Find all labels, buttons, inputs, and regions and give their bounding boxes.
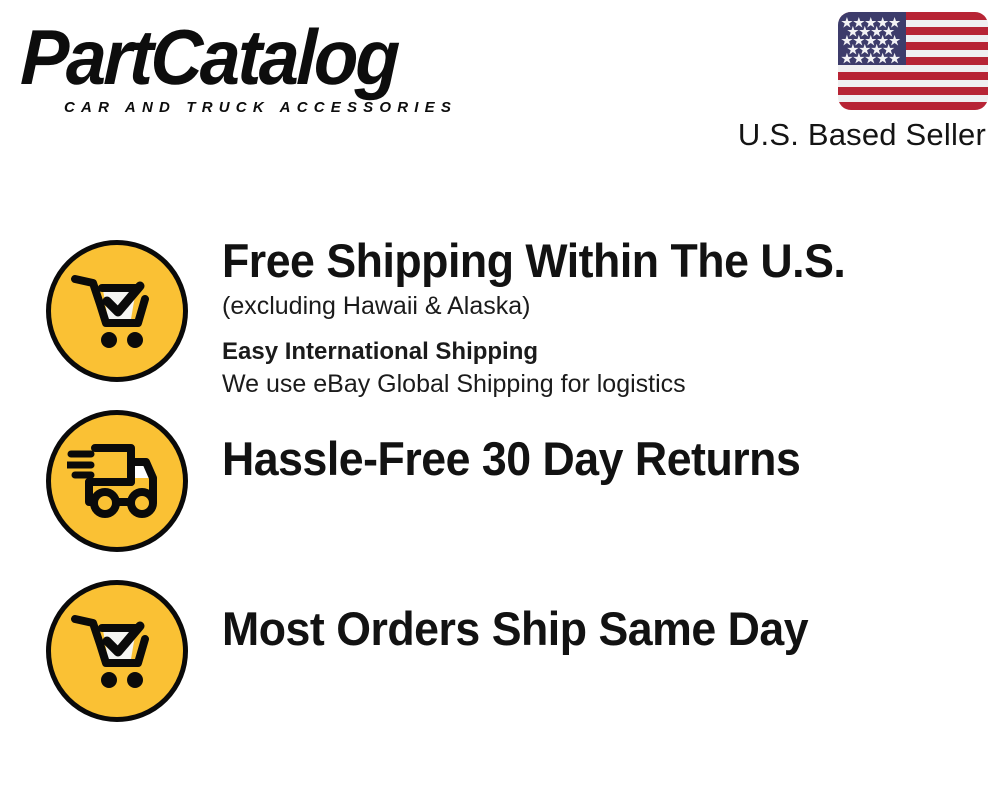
brand-logo: PartCatalog CAR AND TRUCK ACCESSORIES	[22, 18, 492, 118]
benefit-headline: Free Shipping Within The U.S.	[222, 236, 944, 286]
benefit-headline: Most Orders Ship Same Day	[222, 604, 944, 654]
shopping-cart-check-icon	[46, 580, 188, 722]
us-based-seller-label: U.S. Based Seller	[640, 118, 986, 152]
benefit-copy: Hassle-Free 30 Day Returns	[222, 434, 982, 484]
benefit-subtext-international-detail: We use eBay Global Shipping for logistic…	[222, 368, 982, 401]
benefit-copy: Most Orders Ship Same Day	[222, 604, 982, 654]
benefit-headline: Hassle-Free 30 Day Returns	[222, 434, 944, 484]
seller-banner: PartCatalog CAR AND TRUCK ACCESSORIES	[0, 0, 1000, 800]
benefit-subtext-international-title: Easy International Shipping	[222, 335, 982, 368]
us-flag-icon	[838, 12, 988, 110]
benefit-row: Hassle-Free 30 Day Returns	[0, 402, 1000, 572]
delivery-truck-icon	[46, 410, 188, 552]
benefit-subtext-exclusions: (excluding Hawaii & Alaska)	[222, 290, 982, 323]
brand-tagline: CAR AND TRUCK ACCESSORIES	[64, 100, 457, 115]
benefit-row: Free Shipping Within The U.S. (excluding…	[0, 232, 1000, 402]
flag-canton	[838, 12, 906, 65]
flag-graphic	[838, 12, 988, 110]
benefit-copy: Free Shipping Within The U.S. (excluding…	[222, 232, 982, 401]
brand-name: PartCatalog	[19, 18, 459, 96]
benefits-list: Free Shipping Within The U.S. (excluding…	[0, 232, 1000, 742]
benefit-row: Most Orders Ship Same Day	[0, 572, 1000, 742]
shopping-cart-check-icon	[46, 240, 188, 382]
